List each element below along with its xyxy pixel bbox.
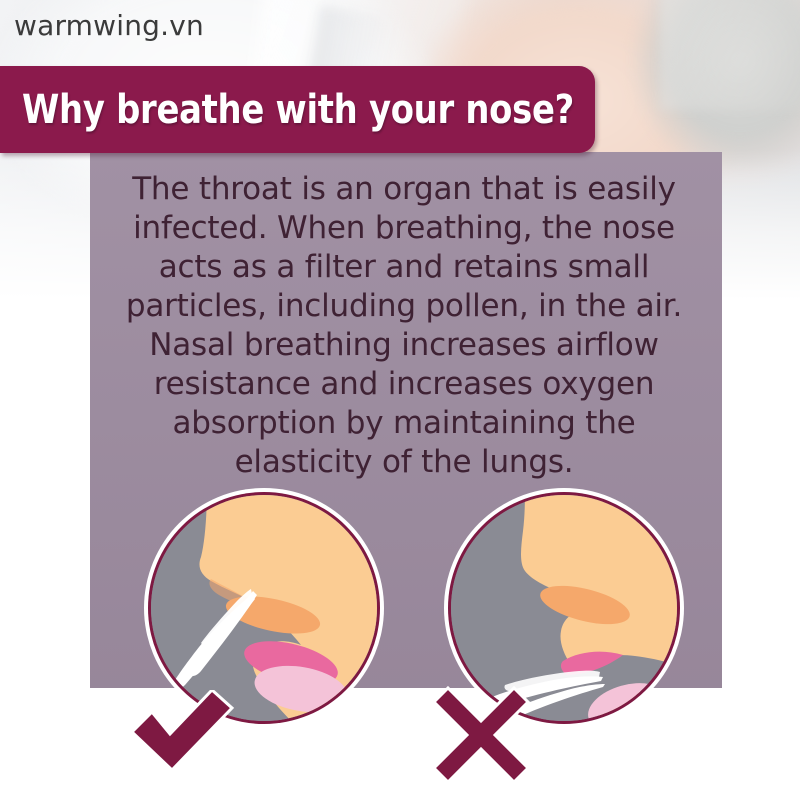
page-title: Why breathe with your nose?: [22, 88, 574, 132]
cross-icon: [432, 686, 530, 784]
watermark-label: warmwing.vn: [14, 10, 204, 42]
photo-child-hair-highlight: [660, 0, 800, 110]
infographic-canvas: warmwing.vn Why breathe with your nose? …: [0, 0, 800, 800]
title-banner: Why breathe with your nose?: [0, 66, 595, 153]
body-paragraph: The throat is an organ that is easily in…: [104, 170, 704, 482]
check-icon: [126, 690, 236, 772]
circle-gray-disc: [151, 495, 377, 721]
nose-breathing-face-svg: [151, 495, 377, 721]
